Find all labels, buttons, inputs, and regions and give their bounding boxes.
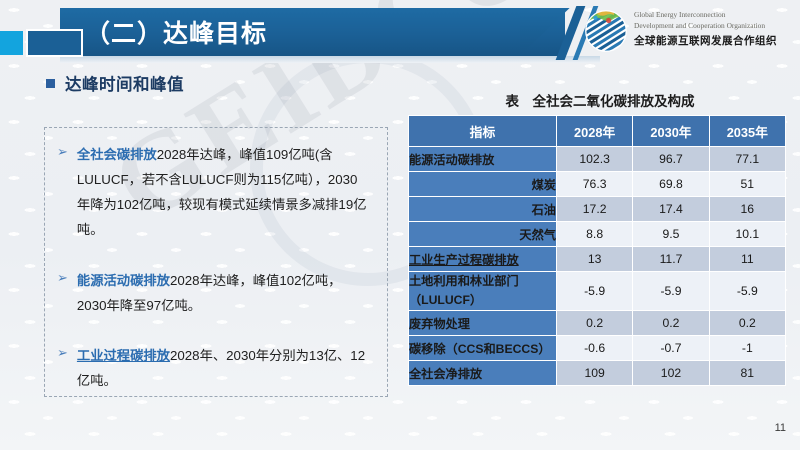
subheading-label: 达峰时间和峰值 xyxy=(65,71,184,95)
slide-header: （二）达峰目标 xyxy=(0,0,800,63)
table-row: 废弃物处理 0.2 0.2 0.2 xyxy=(409,311,786,336)
list-item: ➢ 能源活动碳排放2028年达峰，峰值102亿吨，2030年降至97亿吨。 xyxy=(57,268,369,318)
cell-2030: -0.7 xyxy=(633,336,709,361)
logo-text-block: Global Energy Interconnection Developmen… xyxy=(634,10,777,48)
square-bullet-icon xyxy=(46,79,55,88)
bullet-highlight-0: 全社会碳排放 xyxy=(77,147,157,162)
cell-2030: -5.9 xyxy=(633,272,709,311)
arrow-bullet-icon: ➢ xyxy=(57,268,68,318)
cell-2028: 76.3 xyxy=(556,172,632,197)
cell-2035: 16 xyxy=(709,197,785,222)
table-row: 石油 17.2 17.4 16 xyxy=(409,197,786,222)
cell-2035: 10.1 xyxy=(709,222,785,247)
table-row: 煤炭 76.3 69.8 51 xyxy=(409,172,786,197)
section-subheading: 达峰时间和峰值 xyxy=(46,71,184,95)
row-label: 石油 xyxy=(409,197,557,222)
list-item: ➢ 全社会碳排放2028年达峰，峰值109亿吨(含LULUCF，若不含LULUC… xyxy=(57,142,369,242)
cell-2035: -1 xyxy=(709,336,785,361)
table-row: 工业生产过程碳排放 13 11.7 11 xyxy=(409,247,786,272)
header-underline xyxy=(60,56,600,63)
cell-2028: -0.6 xyxy=(556,336,632,361)
cell-2030: 96.7 xyxy=(633,147,709,172)
row-label: 天然气 xyxy=(409,222,557,247)
arrow-bullet-icon: ➢ xyxy=(57,142,68,242)
row-label: 废弃物处理 xyxy=(409,311,557,336)
row-label: 土地利用和林业部门（LULUCF） xyxy=(409,272,557,311)
cell-2030: 0.2 xyxy=(633,311,709,336)
cell-2030: 9.5 xyxy=(633,222,709,247)
table-row: 碳移除（CCS和BECCS） -0.6 -0.7 -1 xyxy=(409,336,786,361)
bullet-text-2: 工业过程碳排放2028年、2030年分别为13亿、12亿吨。 xyxy=(77,343,369,393)
cell-2030: 11.7 xyxy=(633,247,709,272)
cell-2035: 51 xyxy=(709,172,785,197)
bullet-text-0: 全社会碳排放2028年达峰，峰值109亿吨(含LULUCF，若不含LULUCF则… xyxy=(77,142,369,242)
bullet-panel: ➢ 全社会碳排放2028年达峰，峰值109亿吨(含LULUCF，若不含LULUC… xyxy=(44,127,388,397)
cell-2028: 109 xyxy=(556,361,632,386)
logo-chinese-name: 全球能源互联网发展合作组织 xyxy=(634,33,777,48)
slide-canvas: GEIDCO （二）达峰目标 xyxy=(0,0,800,450)
logo-english-line1: Global Energy Interconnection xyxy=(634,10,777,21)
page-number: 11 xyxy=(775,422,786,434)
cell-2035: 81 xyxy=(709,361,785,386)
cell-2030: 69.8 xyxy=(633,172,709,197)
bullet-highlight-2: 工业过程碳排放 xyxy=(77,348,170,363)
column-header-2028: 2028年 xyxy=(556,116,632,147)
list-item: ➢ 工业过程碳排放2028年、2030年分别为13亿、12亿吨。 xyxy=(57,343,369,393)
table-row: 土地利用和林业部门（LULUCF） -5.9 -5.9 -5.9 xyxy=(409,272,786,311)
cell-2035: 77.1 xyxy=(709,147,785,172)
cell-2030: 17.4 xyxy=(633,197,709,222)
table-row: 能源活动碳排放 102.3 96.7 77.1 xyxy=(409,147,786,172)
cell-2030: 102 xyxy=(633,361,709,386)
column-header-2030: 2030年 xyxy=(633,116,709,147)
row-label: 全社会净排放 xyxy=(409,361,557,386)
cell-2028: 13 xyxy=(556,247,632,272)
row-label: 煤炭 xyxy=(409,172,557,197)
logo-english-line2: Development and Cooperation Organization xyxy=(634,21,777,32)
cell-2028: 0.2 xyxy=(556,311,632,336)
arrow-bullet-icon: ➢ xyxy=(57,343,68,393)
emissions-table: 指标 2028年 2030年 2035年 能源活动碳排放 102.3 96.7 … xyxy=(408,115,786,386)
table-header-row: 指标 2028年 2030年 2035年 xyxy=(409,116,786,147)
cell-2035: 0.2 xyxy=(709,311,785,336)
cell-2028: 8.8 xyxy=(556,222,632,247)
cell-2035: -5.9 xyxy=(709,272,785,311)
bullet-text-1: 能源活动碳排放2028年达峰，峰值102亿吨，2030年降至97亿吨。 xyxy=(77,268,369,318)
table-row: 天然气 8.8 9.5 10.1 xyxy=(409,222,786,247)
header-accent-square-blue xyxy=(26,29,83,57)
cell-2035: 11 xyxy=(709,247,785,272)
page-title: （二）达峰目标 xyxy=(85,14,267,50)
table-row: 全社会净排放 109 102 81 xyxy=(409,361,786,386)
table-caption: 表 全社会二氧化碳排放及构成 xyxy=(410,90,790,110)
bullet-highlight-1: 能源活动碳排放 xyxy=(77,273,170,288)
organization-logo: Global Energy Interconnection Developmen… xyxy=(584,6,796,56)
cell-2028: -5.9 xyxy=(556,272,632,311)
column-header-indicator: 指标 xyxy=(409,116,557,147)
globe-icon xyxy=(584,9,628,53)
cell-2028: 17.2 xyxy=(556,197,632,222)
cell-2028: 102.3 xyxy=(556,147,632,172)
row-label: 能源活动碳排放 xyxy=(409,147,557,172)
header-accent-square-cyan xyxy=(0,31,23,55)
row-label: 碳移除（CCS和BECCS） xyxy=(409,336,557,361)
column-header-2035: 2035年 xyxy=(709,116,785,147)
row-label: 工业生产过程碳排放 xyxy=(409,247,557,272)
